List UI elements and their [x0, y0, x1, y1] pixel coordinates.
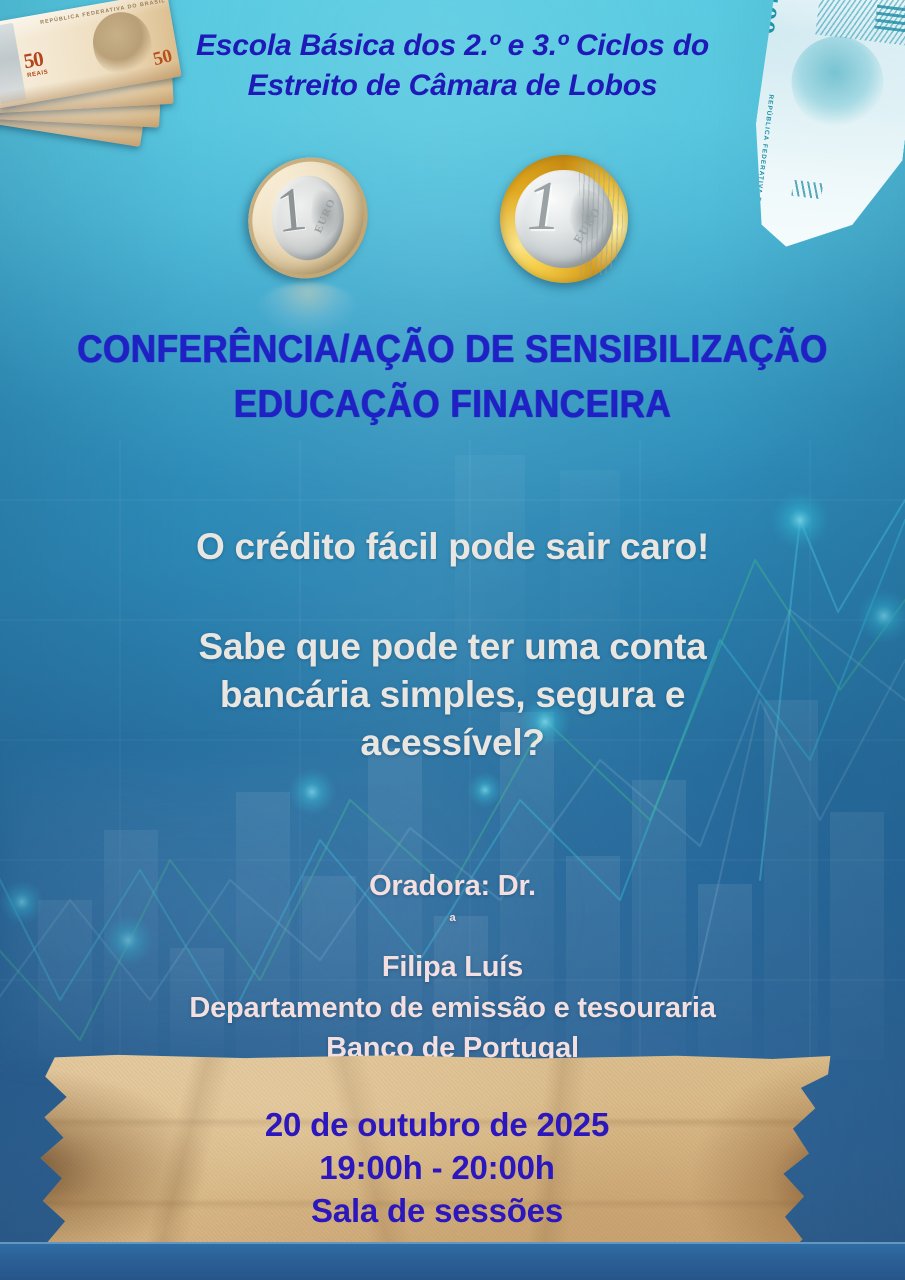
- tagline-account-line-1: Sabe que pode ter uma conta: [60, 623, 845, 671]
- bottom-band: [0, 1242, 905, 1280]
- tagline-account-line-2: bancária simples, segura e: [60, 671, 845, 719]
- tagline-account: Sabe que pode ter uma conta bancária sim…: [60, 623, 845, 767]
- event-time: 19:00h - 20:00h: [38, 1147, 836, 1190]
- event-details-block: 20 de outubro de 2025 19:00h - 20:00h Sa…: [38, 1104, 836, 1233]
- speaker-block: Oradora: Dr.ª Filipa Luís Departamento d…: [0, 866, 905, 1069]
- event-date: 20 de outubro de 2025: [38, 1104, 836, 1147]
- headline-line-2: Educação Financeira: [45, 377, 860, 432]
- tagline-credit: O crédito fácil pode sair caro!: [60, 525, 845, 569]
- speaker-department: Departamento de emissão e tesouraria: [40, 988, 865, 1029]
- coin-left-value: 1: [274, 177, 310, 243]
- banknote-100-issuer-text: REPÚBLICA FEDERATIVA DO BRASIL: [749, 94, 773, 242]
- speaker-name-ordinal: ª: [449, 911, 455, 931]
- banknote-fan-icon: 50REAIS 50REAIS 50REAIS REPÚBLICA FEDERA…: [0, 0, 197, 165]
- school-name-line-2: Estreito de Câmara de Lobos: [248, 69, 658, 102]
- tagline-account-line-3: acessível?: [60, 719, 845, 767]
- message-block: O crédito fácil pode sair caro! Sabe que…: [0, 525, 905, 767]
- euro-coin-photo-icon: 1 EURO: [248, 158, 368, 278]
- event-venue: Sala de sessões: [38, 1190, 836, 1233]
- school-name-line-1: Escola Básica dos 2.º e 3.º Ciclos do: [196, 29, 709, 62]
- headline-line-1: Conferência/Ação de Sensibilização: [45, 322, 860, 377]
- euro-coin-vector-icon: 1 EURO: [500, 155, 628, 283]
- poster-canvas: 50REAIS 50REAIS 50REAIS REPÚBLICA FEDERA…: [0, 0, 905, 1280]
- speaker-name-prefix: Oradora: Dr.: [40, 866, 865, 907]
- speaker-name: Oradora: Dr.ª Filipa Luís: [40, 866, 865, 988]
- speaker-name-proper: Filipa Luís: [40, 947, 865, 988]
- event-headline: Conferência/Ação de Sensibilização Educa…: [45, 322, 860, 433]
